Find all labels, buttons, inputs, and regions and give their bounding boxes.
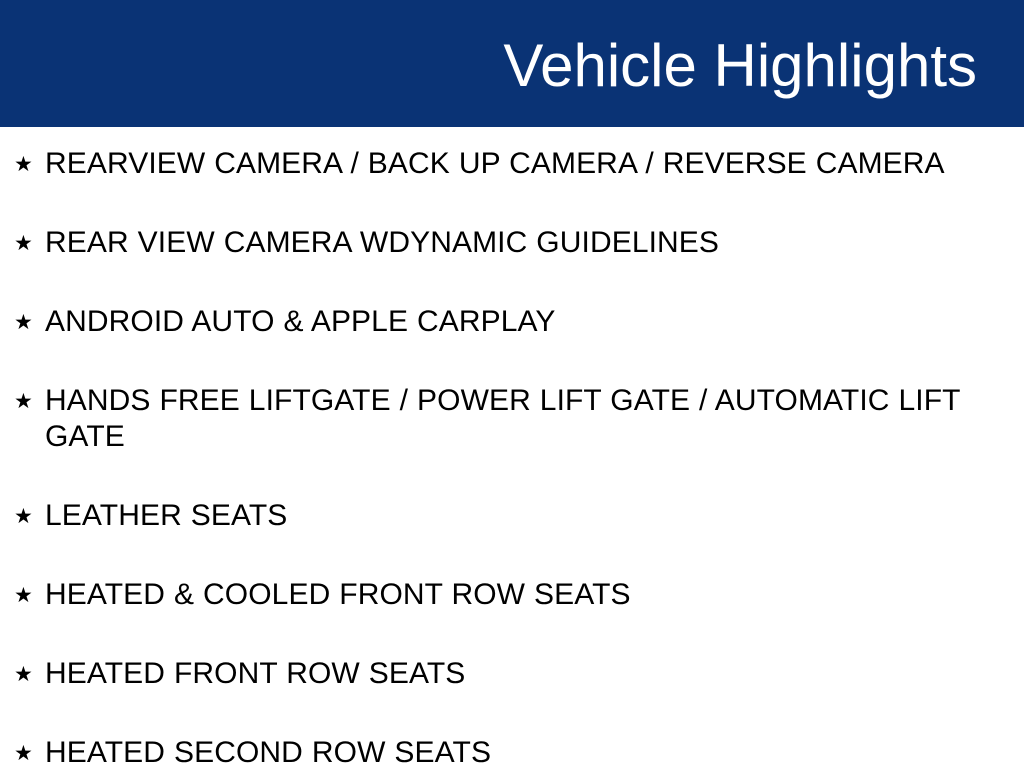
list-item: ★ LEATHER SEATS (14, 498, 996, 534)
list-item-label: HEATED FRONT ROW SEATS (45, 656, 996, 692)
star-bullet-icon: ★ (14, 577, 45, 613)
list-item: ★ REARVIEW CAMERA / BACK UP CAMERA / REV… (14, 146, 996, 182)
star-bullet-icon: ★ (14, 383, 45, 419)
star-bullet-icon: ★ (14, 304, 45, 340)
list-item-label: HEATED & COOLED FRONT ROW SEATS (45, 577, 996, 613)
list-item: ★ REAR VIEW CAMERA WDYNAMIC GUIDELINES (14, 225, 996, 261)
list-item: ★ HEATED & COOLED FRONT ROW SEATS (14, 577, 996, 613)
list-item: ★ HANDS FREE LIFTGATE / POWER LIFT GATE … (14, 383, 996, 455)
list-item: ★ HEATED SECOND ROW SEATS (14, 735, 996, 771)
list-item-label: REARVIEW CAMERA / BACK UP CAMERA / REVER… (45, 146, 996, 182)
vehicle-highlights-slide: Vehicle Highlights ★ REARVIEW CAMERA / B… (0, 0, 1024, 768)
page-title: Vehicle Highlights (503, 36, 977, 96)
list-item-label: HEATED SECOND ROW SEATS (45, 735, 996, 771)
list-item: ★ ANDROID AUTO & APPLE CARPLAY (14, 304, 996, 340)
list-item-label: REAR VIEW CAMERA WDYNAMIC GUIDELINES (45, 225, 996, 261)
list-item: ★ HEATED FRONT ROW SEATS (14, 656, 996, 692)
star-bullet-icon: ★ (14, 498, 45, 534)
star-bullet-icon: ★ (14, 225, 45, 261)
slide-body: ★ REARVIEW CAMERA / BACK UP CAMERA / REV… (0, 127, 1024, 768)
list-item-label: HANDS FREE LIFTGATE / POWER LIFT GATE / … (45, 383, 996, 455)
star-bullet-icon: ★ (14, 656, 45, 692)
vehicle-highlights-list: ★ REARVIEW CAMERA / BACK UP CAMERA / REV… (14, 146, 996, 771)
list-item-label: LEATHER SEATS (45, 498, 996, 534)
star-bullet-icon: ★ (14, 146, 45, 182)
star-bullet-icon: ★ (14, 735, 45, 771)
list-item-label: ANDROID AUTO & APPLE CARPLAY (45, 304, 996, 340)
slide-header-band: Vehicle Highlights (0, 0, 1024, 127)
